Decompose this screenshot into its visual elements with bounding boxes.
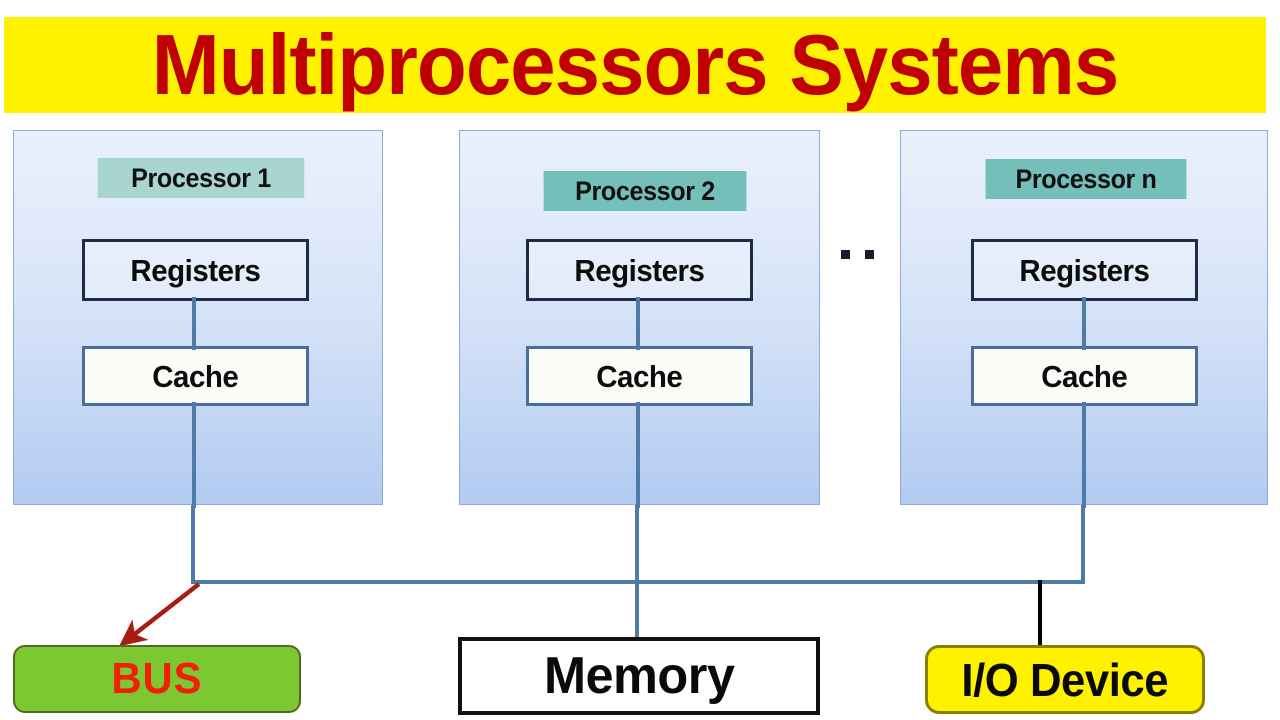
io-device-connector-line [1038, 580, 1042, 647]
cache-label-n: Cache [1041, 361, 1127, 392]
processor-2-label: Processor 2 [544, 171, 747, 211]
memory-label: Memory [544, 650, 735, 702]
title-banner: Multiprocessors Systems [4, 17, 1266, 113]
processor-panel-1: Processor 1 Registers Cache [13, 130, 383, 505]
cache-box-2: Cache [526, 346, 753, 406]
connector-registers-cache-1 [192, 297, 196, 350]
cache-box-n: Cache [971, 346, 1198, 406]
bus-label: BUS [111, 657, 202, 701]
cache-label-1: Cache [152, 361, 238, 392]
cache-label-2: Cache [596, 361, 682, 392]
registers-label-1: Registers [131, 255, 261, 286]
connector-cache-bus-inner-n [1082, 402, 1086, 508]
memory-connector-line [635, 580, 639, 638]
connector-cache-bus-inner-1 [192, 402, 196, 508]
bus-node[interactable]: BUS [13, 645, 301, 713]
io-device-label: I/O Device [962, 657, 1169, 703]
processor-panel-n: Processor n Registers Cache [900, 130, 1268, 505]
page-title: Multiprocessors Systems [29, 17, 1241, 113]
registers-box-2: Registers [526, 239, 753, 301]
registers-box-1: Registers [82, 239, 309, 301]
connector-registers-cache-2 [636, 297, 640, 350]
dot-1 [841, 250, 850, 259]
processor-panel-2: Processor 2 Registers Cache [459, 130, 820, 505]
processor-n-bus-drop [1081, 505, 1085, 584]
continuation-dots-icon [841, 250, 874, 259]
processor-1-bus-drop [191, 505, 195, 584]
registers-label-n: Registers [1020, 255, 1150, 286]
processor-1-label: Processor 1 [98, 158, 304, 198]
cache-box-1: Cache [82, 346, 309, 406]
connector-cache-bus-inner-2 [636, 402, 640, 508]
processor-n-label: Processor n [986, 159, 1187, 199]
registers-label-2: Registers [575, 255, 705, 286]
diagram-canvas: Multiprocessors Systems Processor 1 Regi… [0, 0, 1280, 720]
dot-2 [865, 250, 874, 259]
registers-box-n: Registers [971, 239, 1198, 301]
io-device-node[interactable]: I/O Device [925, 645, 1205, 714]
memory-node[interactable]: Memory [458, 637, 820, 715]
connector-registers-cache-n [1082, 297, 1086, 350]
